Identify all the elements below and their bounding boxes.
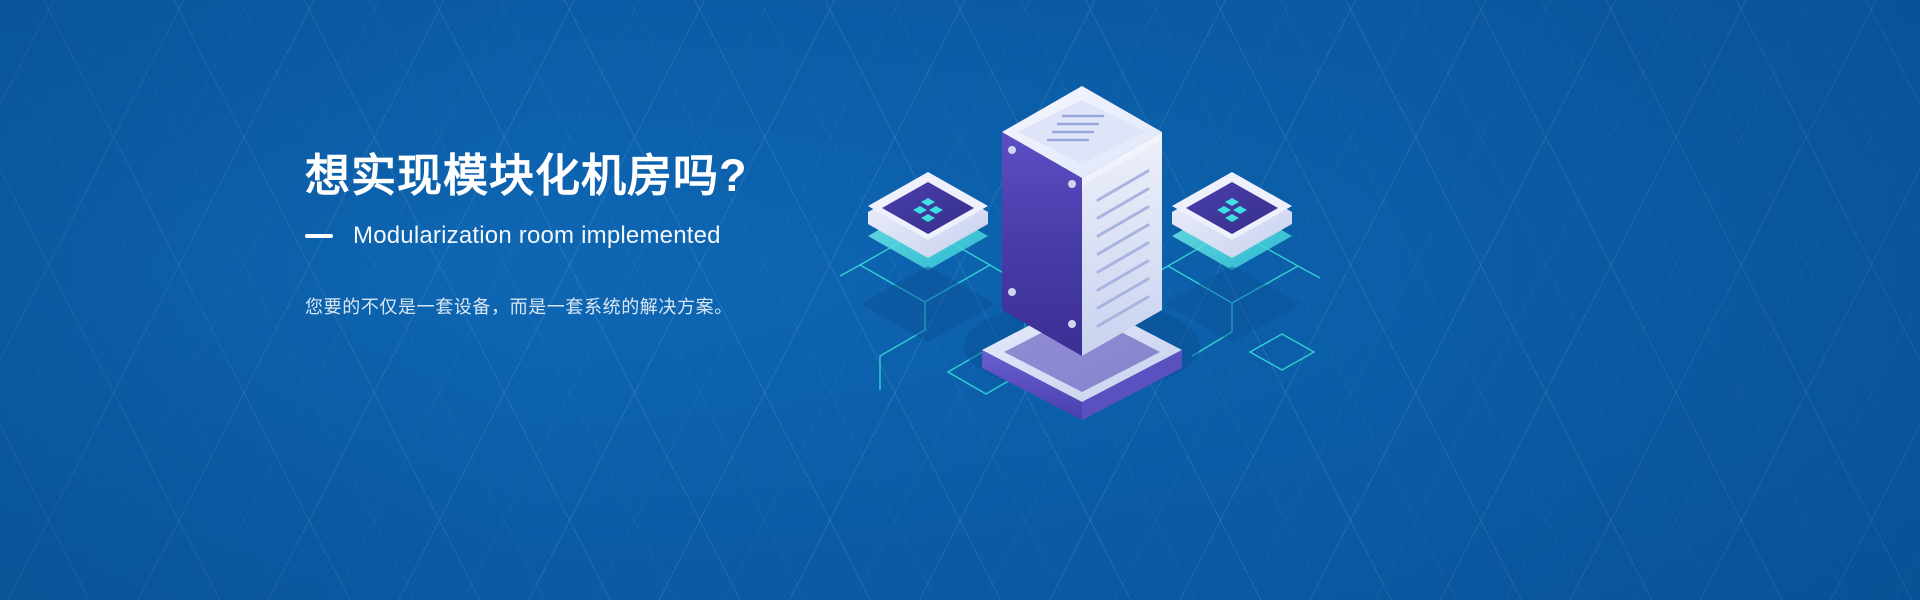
dash-icon [305, 234, 333, 238]
isometric-data-center-illustration [820, 60, 1340, 420]
server-rack [1002, 86, 1162, 356]
hero-subtitle: Modularization room implemented [353, 222, 721, 250]
chip-module-left [868, 172, 988, 270]
chip-module-right [1172, 172, 1292, 270]
hero-banner: 想实现模块化机房吗? Modularization room implement… [0, 0, 1920, 600]
